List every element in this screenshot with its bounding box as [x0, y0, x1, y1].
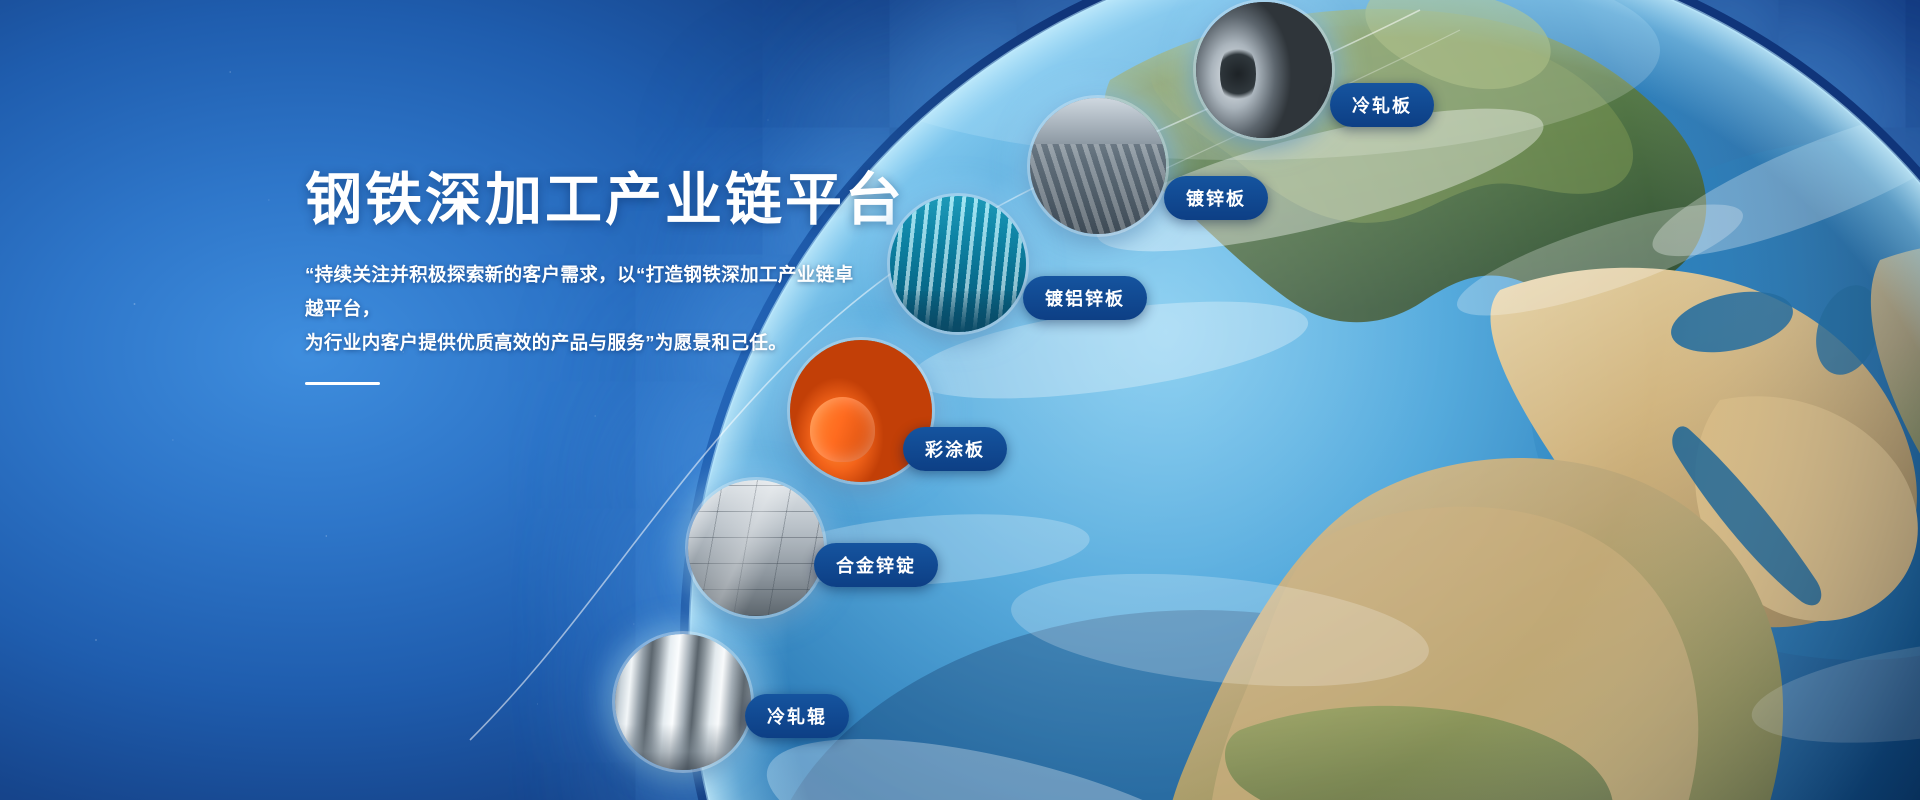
steel-coil-photo — [1196, 2, 1332, 138]
product-label-aluzinc-sheet[interactable]: 镀铝锌板 — [1023, 276, 1147, 320]
product-thumb-cold-rolled-sheet[interactable] — [1196, 2, 1332, 138]
hero-subtitle-line-1: “持续关注并积极探索新的客户需求，以“打造钢铁深加工产业链卓越平台， — [305, 258, 865, 326]
hero-subtitle: “持续关注并积极探索新的客户需求，以“打造钢铁深加工产业链卓越平台， 为行业内客… — [305, 258, 865, 361]
product-thumb-cold-rolling-roll[interactable] — [615, 634, 751, 770]
hero-subtitle-line-2: 为行业内客户提供优质高效的产品与服务”为愿景和己任。 — [305, 326, 865, 360]
zinc-ingot-stack-photo — [688, 480, 824, 616]
product-label-cold-rolled-sheet[interactable]: 冷轧板 — [1330, 83, 1434, 127]
product-label-cold-rolling-roll[interactable]: 冷轧辊 — [745, 694, 849, 738]
hero-banner: 钢铁深加工产业链平台 “持续关注并积极探索新的客户需求，以“打造钢铁深加工产业链… — [0, 0, 1920, 800]
headline-divider — [305, 382, 380, 385]
product-thumb-galvanized-sheet[interactable] — [1030, 98, 1166, 234]
product-label-galvanized-sheet[interactable]: 镀锌板 — [1164, 176, 1268, 220]
aluzinc-coil-photo — [890, 196, 1026, 332]
rolling-roll-photo — [615, 634, 751, 770]
product-thumb-aluzinc-sheet[interactable] — [890, 196, 1026, 332]
product-thumb-alloy-zinc-ingot[interactable] — [688, 480, 824, 616]
galvanized-warehouse-photo — [1030, 98, 1166, 234]
product-label-alloy-zinc-ingot[interactable]: 合金锌锭 — [814, 543, 938, 587]
page-title: 钢铁深加工产业链平台 — [305, 168, 915, 234]
product-label-color-coated-sheet[interactable]: 彩涂板 — [903, 427, 1007, 471]
